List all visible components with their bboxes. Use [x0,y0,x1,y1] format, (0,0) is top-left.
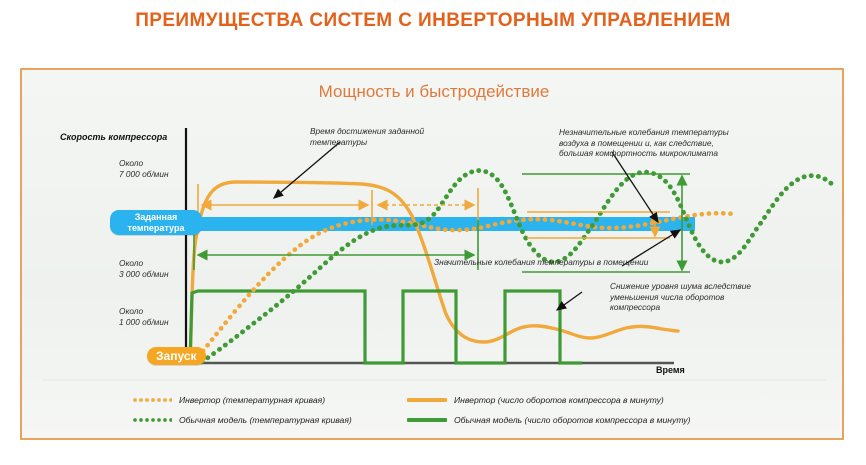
page-title: ПРЕИМУЩЕСТВА СИСТЕМ С ИНВЕРТОРНЫМ УПРАВЛ… [0,10,866,32]
set-temperature-badge: Заданная температура [110,210,202,235]
legend-label-inverter-rpm: Инвертор (число оборотов компрессора в м… [454,395,664,405]
x-axis-title: Время [656,365,685,375]
annotation-small-fluctuation: Незначительные колебания температуры воз… [559,127,789,159]
y-tick-1000: Около 1 000 об/мин [119,306,169,327]
annotation-time-to-temperature: Время достижения заданной температуры [310,126,510,147]
legend-marker-dotted-orange-icon [132,397,172,403]
legend-marker-solid-orange-icon [407,398,447,402]
annotation-noise-reduction: Снижение уровня шума вследствие уменьшен… [610,281,820,313]
legend-marker-solid-green-icon [407,418,447,422]
legend-item-inverter-temp: Инвертор (температурная кривая) [132,395,325,405]
legend-label-inverter-temp: Инвертор (температурная кривая) [179,395,325,405]
y-tick-7000: Около 7 000 об/мин [119,158,169,179]
legend-label-standard-rpm: Обычная модель (число оборотов компрессо… [454,415,690,425]
legend-marker-dotted-green-icon [132,417,172,423]
legend-item-inverter-rpm: Инвертор (число оборотов компрессора в м… [407,395,664,405]
series-standard-temp [190,171,834,370]
y-tick-3000: Около 3 000 об/мин [119,258,169,279]
annotation-large-fluctuation: Значительные колебания температуры в пом… [434,257,734,268]
legend-item-standard-temp: Обычная модель (температурная кривая) [132,415,352,425]
chart-panel: Мощность и быстродействие [20,68,844,440]
legend-item-standard-rpm: Обычная модель (число оборотов компрессо… [407,415,690,425]
y-axis-title: Скорость компрессора [60,132,167,142]
leader-line-time-to-temp [274,142,340,198]
start-badge: Запуск [147,347,206,365]
legend-label-standard-temp: Обычная модель (температурная кривая) [179,415,352,425]
